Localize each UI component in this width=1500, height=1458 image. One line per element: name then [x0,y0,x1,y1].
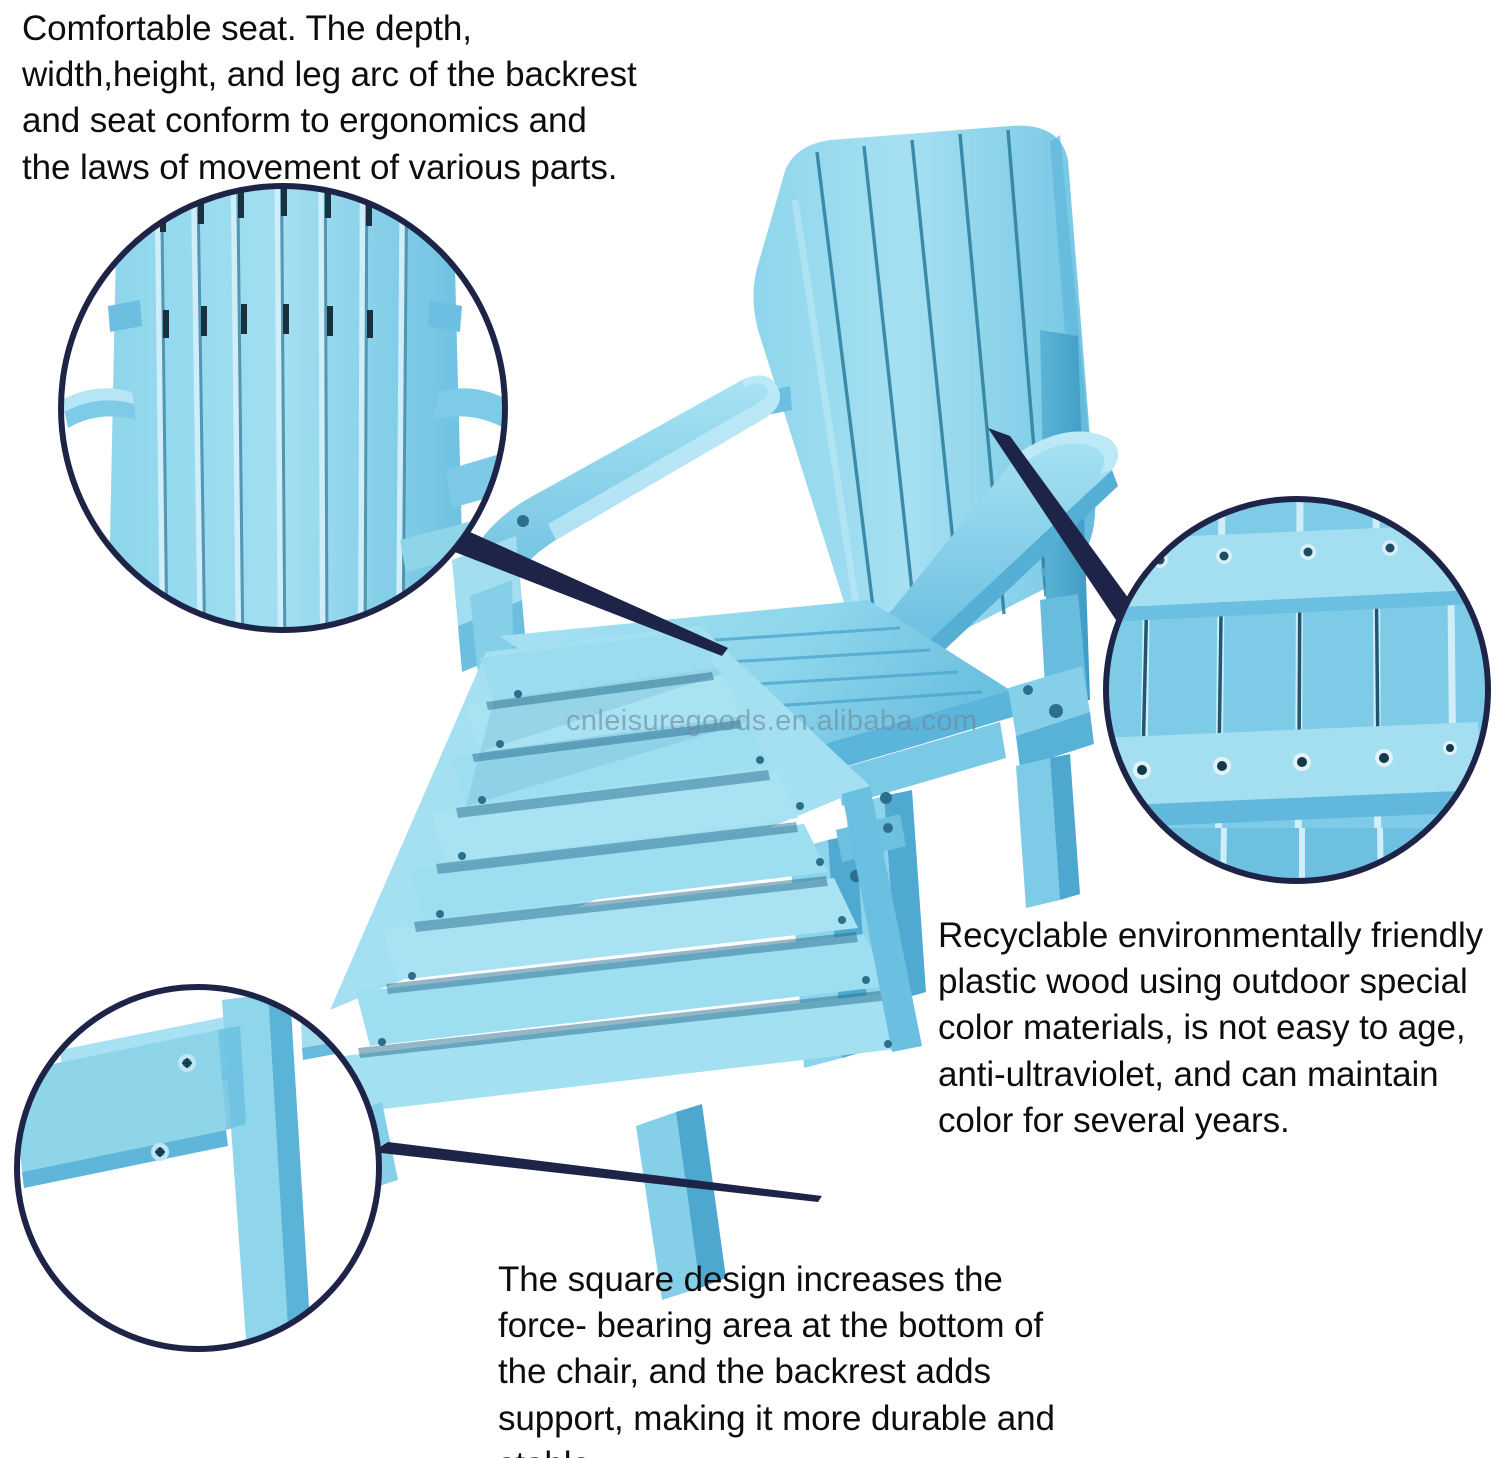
chair-illustration [0,0,1500,1458]
caption-comfortable-seat: Comfortable seat. The depth, width,heigh… [22,6,712,191]
leader-line-square-leg [372,1142,822,1202]
callout-circle-square-leg [14,987,379,1358]
callout-circle-support-rail [1100,499,1494,888]
rear-leg-left [1016,754,1080,908]
product-infographic: cnleisuregoods.en.alibaba.com Comfortabl… [0,0,1500,1458]
caption-recyclable-material: Recyclable environmentally friendly plas… [938,913,1498,1144]
caption-square-design: The square design increases the force- b… [498,1257,1088,1458]
